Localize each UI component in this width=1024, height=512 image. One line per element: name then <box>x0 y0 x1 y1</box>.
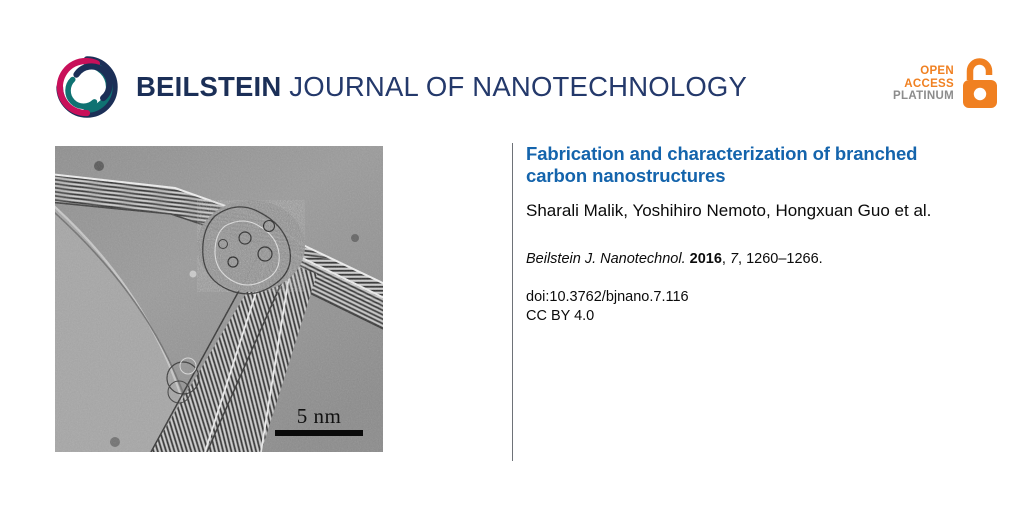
article-metadata: Fabrication and characterization of bran… <box>526 143 978 326</box>
citation-journal: Beilstein J. Nanotechnol. <box>526 251 686 267</box>
open-lock-icon <box>960 58 1000 110</box>
journal-wordmark: BEILSTEIN JOURNAL OF NANOTECHNOLOGY <box>136 73 747 101</box>
beilstein-spiral-logo-icon <box>56 56 118 118</box>
scale-bar-rule <box>275 430 363 436</box>
tem-micrograph-figure[interactable]: 5 nm <box>55 146 383 452</box>
article-doi[interactable]: doi:10.3762/bjnano.7.116 <box>526 288 978 307</box>
wordmark-beilstein: BEILSTEIN <box>136 71 281 102</box>
open-access-label: OPEN ACCESS PLATINUM <box>893 65 954 103</box>
citation-volume: 7 <box>730 251 738 267</box>
article-authors: Sharali Malik, Yoshihiro Nemoto, Hongxua… <box>526 199 978 222</box>
wordmark-journal-of-nanotechnology: JOURNAL OF NANOTECHNOLOGY <box>281 71 747 102</box>
oa-line-access: ACCESS <box>893 78 954 91</box>
oa-line-platinum: PLATINUM <box>893 90 954 103</box>
article-title[interactable]: Fabrication and characterization of bran… <box>526 143 978 187</box>
citation-pages: 1260–1266. <box>746 251 823 267</box>
figure-scale-bar: 5 nm <box>273 405 365 436</box>
article-license[interactable]: CC BY 4.0 <box>526 307 978 326</box>
citation-year: 2016 <box>690 251 722 267</box>
masthead: BEILSTEIN JOURNAL OF NANOTECHNOLOGY OPEN… <box>0 0 1024 140</box>
column-divider <box>512 143 513 461</box>
scale-bar-label: 5 nm <box>273 405 365 427</box>
open-access-badge[interactable]: OPEN ACCESS PLATINUM <box>893 57 1000 111</box>
oa-line-open: OPEN <box>893 65 954 78</box>
journal-brand[interactable]: BEILSTEIN JOURNAL OF NANOTECHNOLOGY <box>56 56 747 118</box>
article-citation: Beilstein J. Nanotechnol. 2016, 7, 1260–… <box>526 250 978 268</box>
